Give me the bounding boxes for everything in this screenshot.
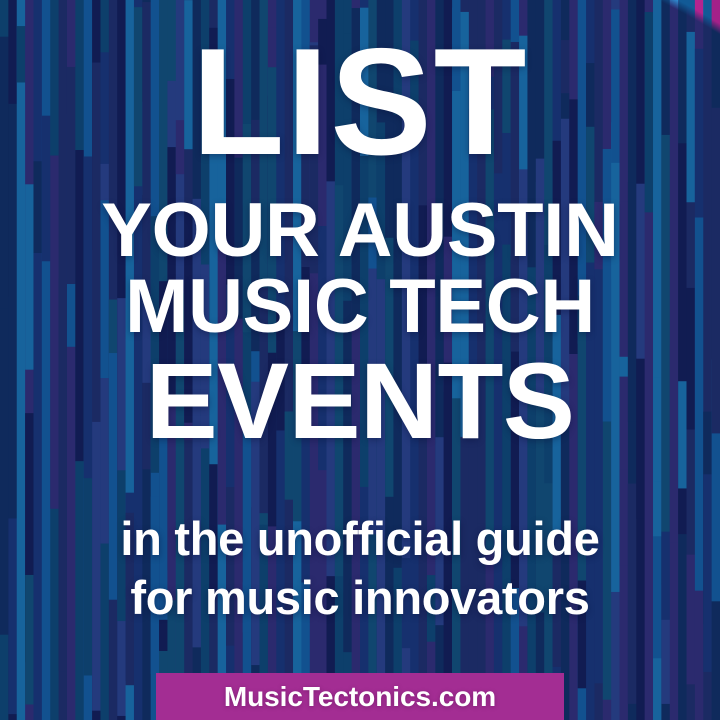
promo-poster: LIST YOUR AUSTIN MUSIC TECH EVENTS in th… xyxy=(0,0,720,720)
subheadline-line-2: for music innovators xyxy=(0,574,720,621)
headline-line-your-austin: YOUR AUSTIN xyxy=(0,196,720,266)
poster-text-layer: LIST YOUR AUSTIN MUSIC TECH EVENTS in th… xyxy=(0,0,720,720)
subheadline-line-1: in the unofficial guide xyxy=(0,515,720,562)
headline-line-events: EVENTS xyxy=(0,351,720,450)
footer-website-url[interactable]: MusicTectonics.com xyxy=(224,681,496,713)
headline-line-list: LIST xyxy=(0,33,720,173)
footer-url-banner[interactable]: MusicTectonics.com xyxy=(156,673,564,720)
headline-line-music-tech: MUSIC TECH xyxy=(0,272,720,342)
